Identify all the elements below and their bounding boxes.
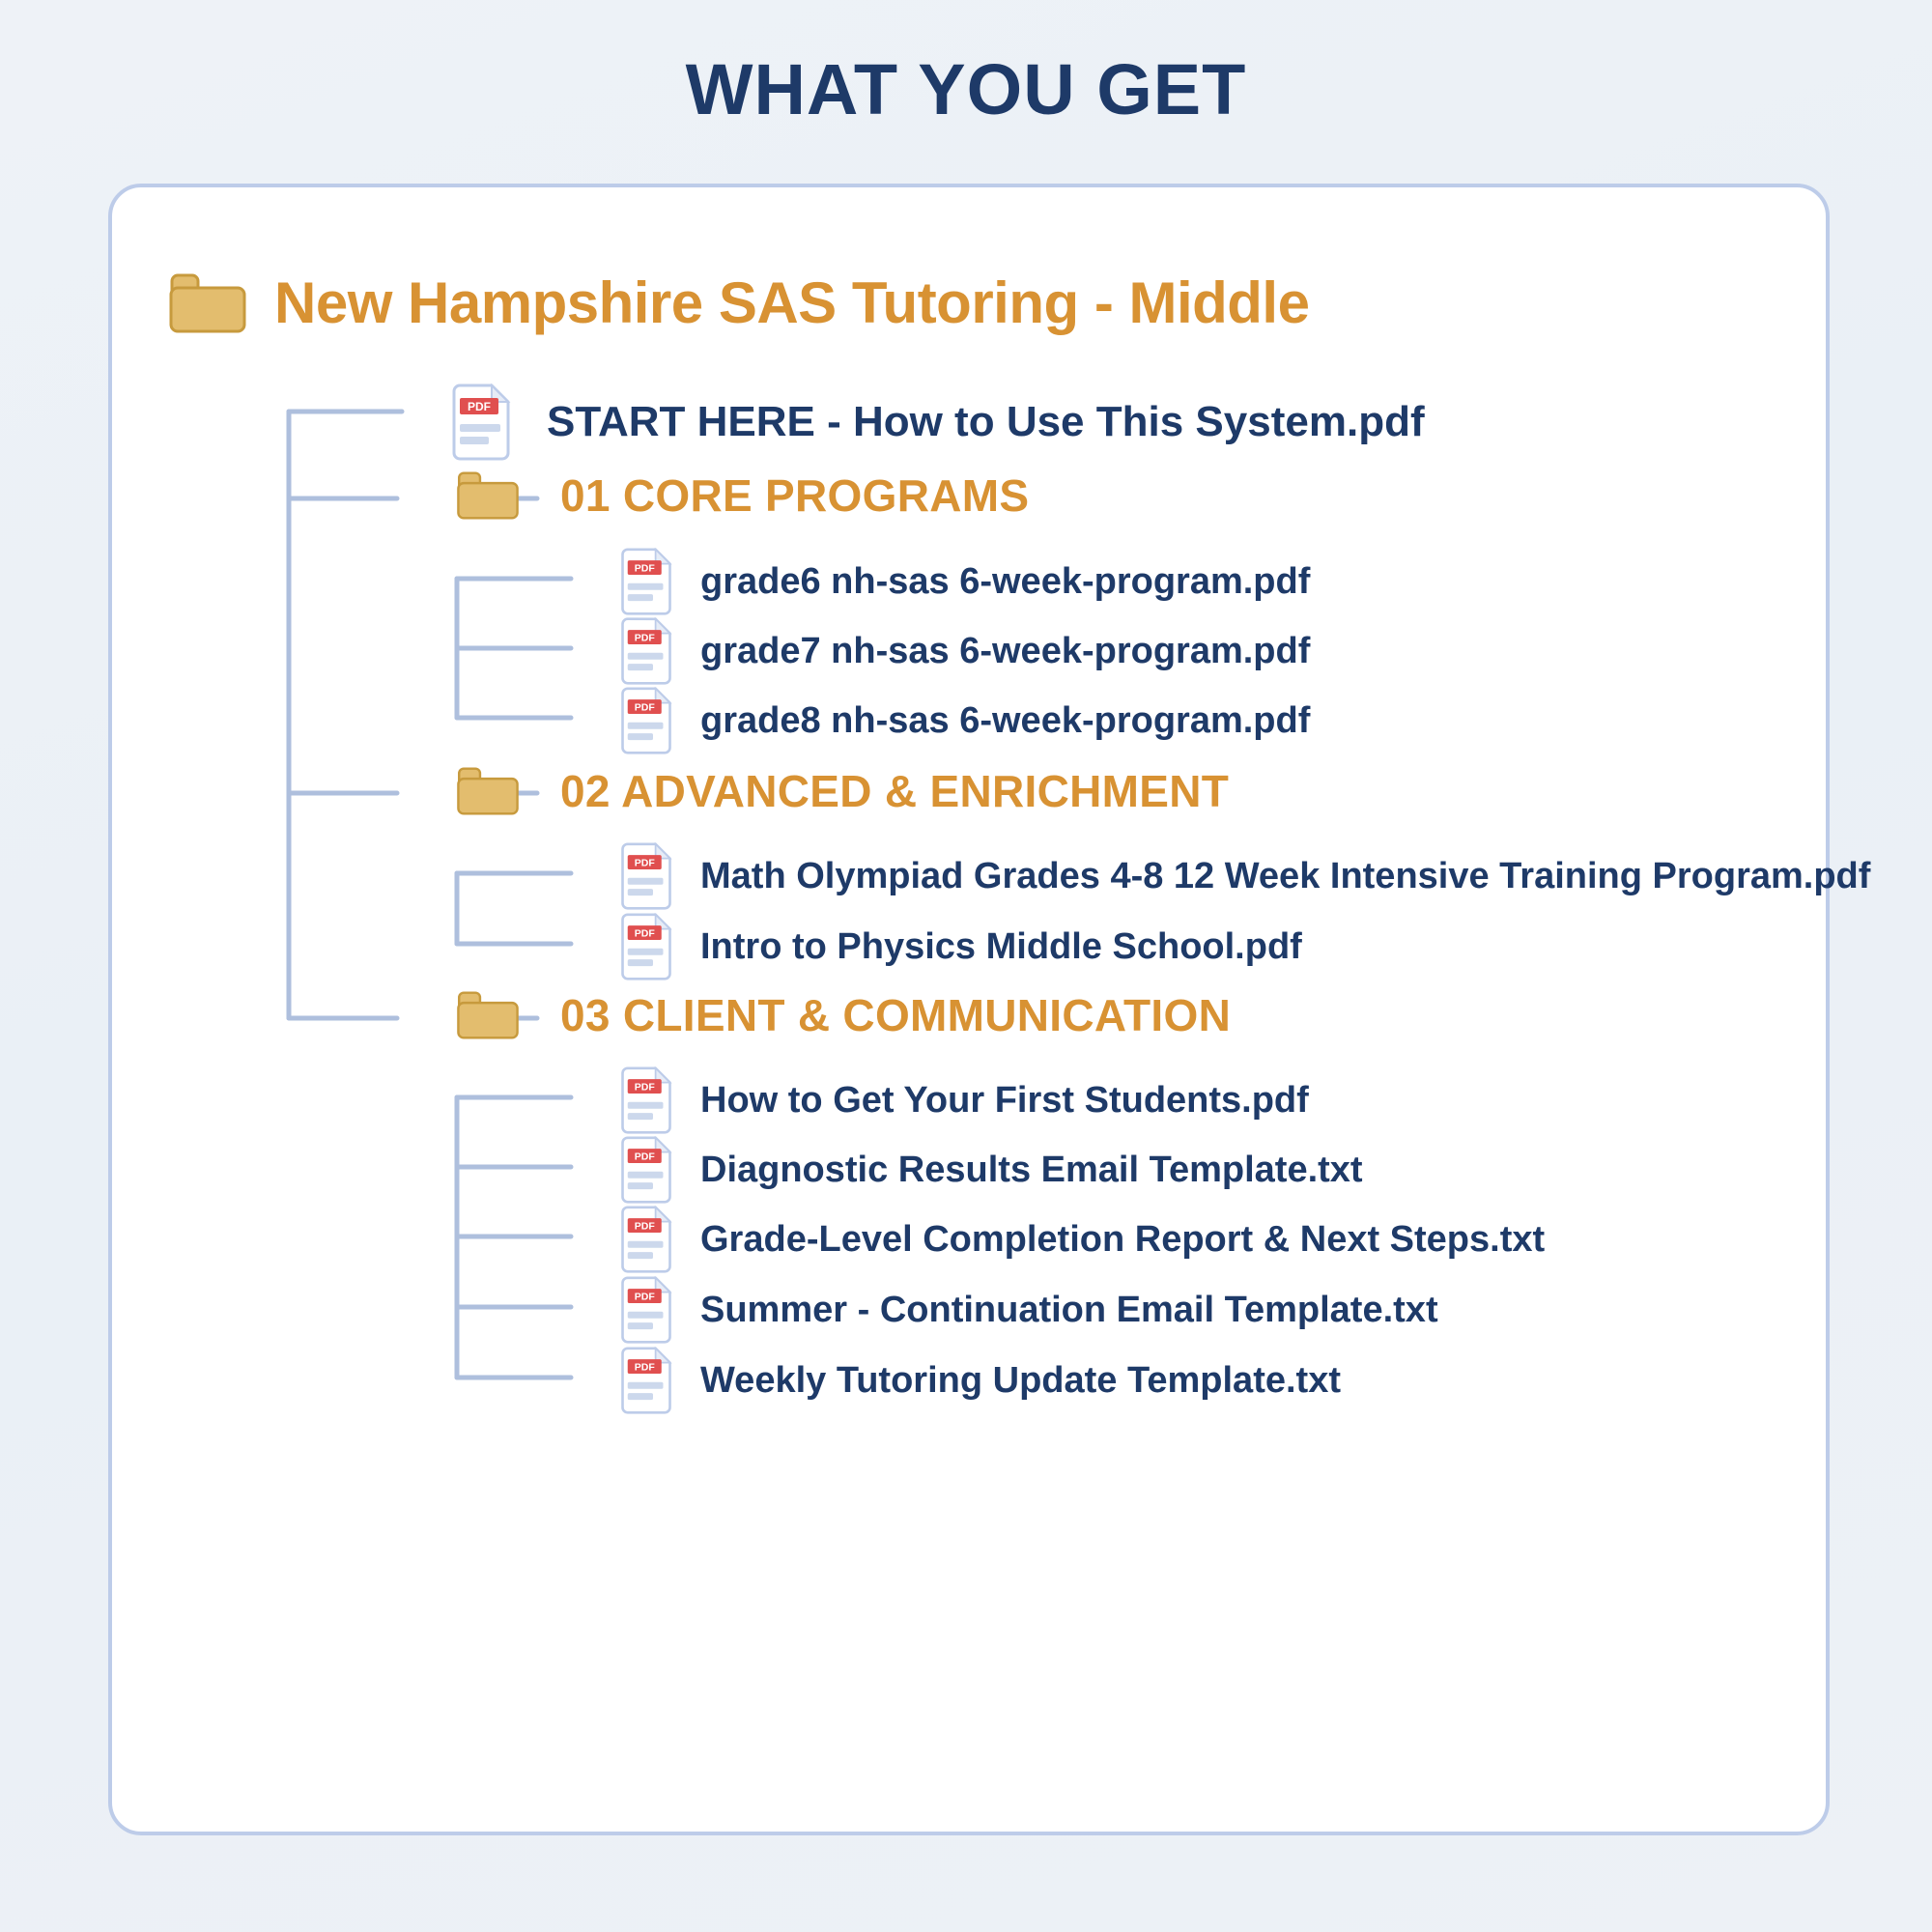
folder-icon xyxy=(168,271,247,335)
folder-label: 03 CLIENT & COMMUNICATION xyxy=(560,989,1231,1041)
svg-text:PDF: PDF xyxy=(635,633,656,644)
pdf-file-icon: PDF xyxy=(619,1136,673,1204)
file-label: Weekly Tutoring Update Template.txt xyxy=(700,1360,1341,1402)
svg-text:PDF: PDF xyxy=(635,1362,656,1374)
svg-text:PDF: PDF xyxy=(635,1292,656,1303)
folder-icon xyxy=(456,989,520,1041)
tree-row-file[interactable]: PDF Intro to Physics Middle School.pdf xyxy=(619,913,1302,980)
tree-row-file[interactable]: PDF Math Olympiad Grades 4-8 12 Week Int… xyxy=(619,842,1870,910)
folder-icon xyxy=(456,469,520,522)
tree-row-folder-01-core-programs[interactable]: 01 CORE PROGRAMS xyxy=(456,469,1029,522)
pdf-file-icon: PDF xyxy=(619,1347,673,1414)
svg-text:PDF: PDF xyxy=(635,1151,656,1163)
folder-icon xyxy=(456,765,520,817)
pdf-file-icon: PDF xyxy=(619,687,673,754)
file-label: Diagnostic Results Email Template.txt xyxy=(700,1150,1363,1191)
tree-row-file[interactable]: PDF Diagnostic Results Email Template.tx… xyxy=(619,1136,1363,1204)
folder-label: 02 ADVANCED & ENRICHMENT xyxy=(560,765,1229,817)
pdf-file-icon: PDF xyxy=(450,384,512,461)
file-tree: New Hampshire SAS Tutoring - Middle PDF … xyxy=(112,187,1833,1839)
svg-text:PDF: PDF xyxy=(635,928,656,940)
svg-text:PDF: PDF xyxy=(635,1082,656,1094)
file-label: grade6 nh-sas 6-week-program.pdf xyxy=(700,561,1310,603)
pdf-file-icon: PDF xyxy=(619,842,673,910)
file-label: grade8 nh-sas 6-week-program.pdf xyxy=(700,700,1310,742)
file-tree-card: New Hampshire SAS Tutoring - Middle PDF … xyxy=(108,184,1830,1835)
root-folder-label: New Hampshire SAS Tutoring - Middle xyxy=(274,270,1309,336)
svg-text:PDF: PDF xyxy=(468,400,491,413)
pdf-file-icon: PDF xyxy=(619,1276,673,1344)
pdf-file-icon: PDF xyxy=(619,548,673,615)
tree-row-file[interactable]: PDF grade6 nh-sas 6-week-program.pdf xyxy=(619,548,1310,615)
tree-row-file-start-here[interactable]: PDF START HERE - How to Use This System.… xyxy=(450,384,1425,461)
tree-row-file[interactable]: PDF Summer - Continuation Email Template… xyxy=(619,1276,1438,1344)
file-label: Grade-Level Completion Report & Next Ste… xyxy=(700,1219,1545,1261)
file-label: Summer - Continuation Email Template.txt xyxy=(700,1290,1438,1331)
tree-row-file[interactable]: PDF grade8 nh-sas 6-week-program.pdf xyxy=(619,687,1310,754)
pdf-file-icon: PDF xyxy=(619,1206,673,1273)
svg-text:PDF: PDF xyxy=(635,858,656,869)
pdf-file-icon: PDF xyxy=(619,617,673,685)
file-label: START HERE - How to Use This System.pdf xyxy=(547,398,1425,446)
tree-row-file[interactable]: PDF Grade-Level Completion Report & Next… xyxy=(619,1206,1545,1273)
tree-row-root-folder[interactable]: New Hampshire SAS Tutoring - Middle xyxy=(168,270,1309,336)
file-label: Intro to Physics Middle School.pdf xyxy=(700,926,1302,968)
tree-row-folder-03-client-communication[interactable]: 03 CLIENT & COMMUNICATION xyxy=(456,989,1231,1041)
tree-row-folder-02-advanced-enrichment[interactable]: 02 ADVANCED & ENRICHMENT xyxy=(456,765,1229,817)
page-title: WHAT YOU GET xyxy=(0,48,1932,130)
svg-text:PDF: PDF xyxy=(635,1221,656,1233)
pdf-file-icon: PDF xyxy=(619,913,673,980)
file-label: Math Olympiad Grades 4-8 12 Week Intensi… xyxy=(700,856,1870,897)
file-label: grade7 nh-sas 6-week-program.pdf xyxy=(700,631,1310,672)
tree-row-file[interactable]: PDF grade7 nh-sas 6-week-program.pdf xyxy=(619,617,1310,685)
tree-row-file[interactable]: PDF Weekly Tutoring Update Template.txt xyxy=(619,1347,1341,1414)
poster-page: WHAT YOU GET xyxy=(0,0,1932,1932)
svg-text:PDF: PDF xyxy=(635,563,656,575)
file-label: How to Get Your First Students.pdf xyxy=(700,1080,1309,1122)
folder-label: 01 CORE PROGRAMS xyxy=(560,469,1029,522)
pdf-file-icon: PDF xyxy=(619,1066,673,1134)
svg-text:PDF: PDF xyxy=(635,702,656,714)
tree-row-file[interactable]: PDF How to Get Your First Students.pdf xyxy=(619,1066,1309,1134)
